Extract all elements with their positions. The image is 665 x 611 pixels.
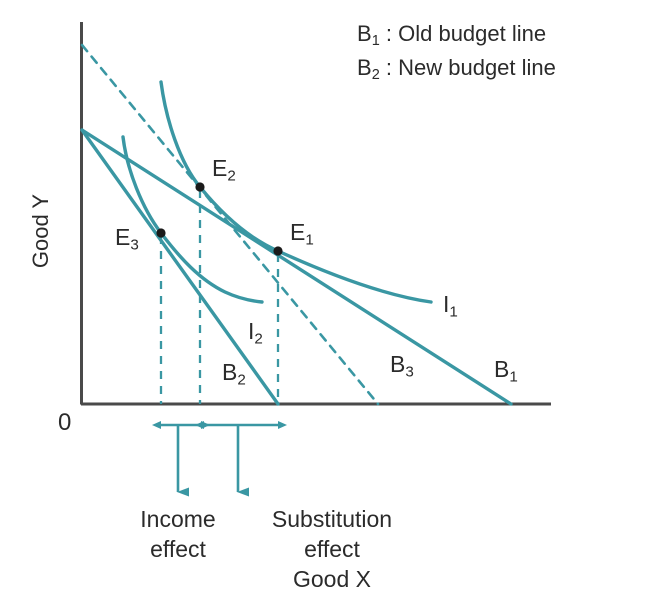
legend-b2-subscript: 2 <box>372 67 380 83</box>
curve-label-b1-subscript: 1 <box>509 368 517 385</box>
point-label-e1-subscript: 1 <box>305 231 313 248</box>
legend-b2-symbol: B <box>357 55 372 80</box>
curve-label-b2-subscript: 2 <box>237 371 245 388</box>
legend-b2-separator: : <box>380 55 398 80</box>
legend-b2-text: New budget line <box>398 55 556 80</box>
legend-b1-text: Old budget line <box>398 21 546 46</box>
drop-lines <box>161 190 278 404</box>
substitution-effect-line-1: Substitution <box>232 505 432 535</box>
substitution-effect-caption: Substitution effect Good X <box>232 505 432 595</box>
point-label-e3-subscript: 3 <box>130 236 138 253</box>
budget-line-b2 <box>82 130 278 404</box>
point-label-e2: E2 <box>212 157 236 183</box>
effect-arrows <box>161 425 278 492</box>
legend: B1 : Old budget line B2 : New budget lin… <box>357 18 556 85</box>
point-e2 <box>195 182 204 191</box>
point-e1 <box>273 246 282 255</box>
curve-label-b2: B2 <box>222 361 246 387</box>
legend-b1-separator: : <box>380 21 398 46</box>
point-label-e2-subscript: 2 <box>227 167 235 184</box>
origin-label: 0 <box>58 411 71 435</box>
point-label-e3: E3 <box>115 226 139 252</box>
point-label-e1: E1 <box>290 221 314 247</box>
income-substitution-effect-figure: B1 : Old budget line B2 : New budget lin… <box>0 0 665 611</box>
x-axis-caption: Good X <box>232 565 432 595</box>
curve-label-b3-subscript: 3 <box>405 363 413 380</box>
budget-line-b1 <box>82 130 511 404</box>
legend-b1-subscript: 1 <box>372 33 380 49</box>
point-label-e1-symbol: E <box>290 219 305 245</box>
point-e3 <box>156 228 165 237</box>
y-axis-label: Good Y <box>28 181 54 281</box>
curve-label-i2: I2 <box>248 320 263 346</box>
curve-label-b1: B1 <box>494 358 518 384</box>
indifference-curve-i1 <box>161 82 431 302</box>
legend-b1-symbol: B <box>357 21 372 46</box>
curve-label-i2-subscript: 2 <box>254 330 262 347</box>
legend-item-b2: B2 : New budget line <box>357 52 556 86</box>
legend-item-b1: B1 : Old budget line <box>357 18 556 52</box>
curve-label-b3: B3 <box>390 353 414 379</box>
substitution-effect-line-2: effect <box>232 535 432 565</box>
curve-label-b2-symbol: B <box>222 359 237 385</box>
point-label-e2-symbol: E <box>212 155 227 181</box>
curve-label-i1: I1 <box>443 293 458 319</box>
indifference-curve-i2 <box>123 137 262 302</box>
curve-label-b1-symbol: B <box>494 356 509 382</box>
point-label-e3-symbol: E <box>115 224 130 250</box>
curve-label-i1-subscript: 1 <box>449 303 457 320</box>
curve-label-b3-symbol: B <box>390 351 405 377</box>
